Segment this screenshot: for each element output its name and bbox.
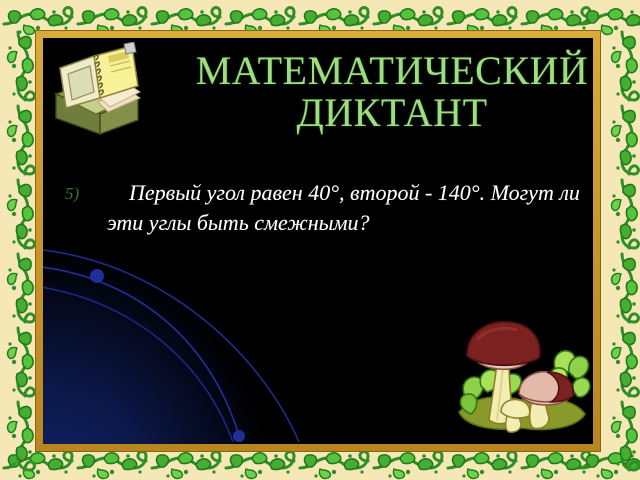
stack-of-books-icon: [48, 42, 144, 140]
mushrooms-clipart-icon: [451, 320, 593, 438]
question-block: 5) Первый угол равен 40°, второй - 140°.…: [65, 178, 581, 238]
blue-corner-glow: [43, 254, 273, 444]
question-number: 5): [65, 178, 107, 207]
presentation-slide: МАТЕМАТИЧЕСКИЙ ДИКТАНТ 5) Первый угол ра…: [0, 0, 640, 480]
slide-content-stage: МАТЕМАТИЧЕСКИЙ ДИКТАНТ 5) Первый угол ра…: [43, 38, 593, 444]
slide-title: МАТЕМАТИЧЕСКИЙ ДИКТАНТ: [193, 50, 591, 134]
slide-title-text: МАТЕМАТИЧЕСКИЙ ДИКТАНТ: [196, 48, 589, 135]
question-text: Первый угол равен 40°, второй - 140°. Мо…: [107, 178, 581, 238]
